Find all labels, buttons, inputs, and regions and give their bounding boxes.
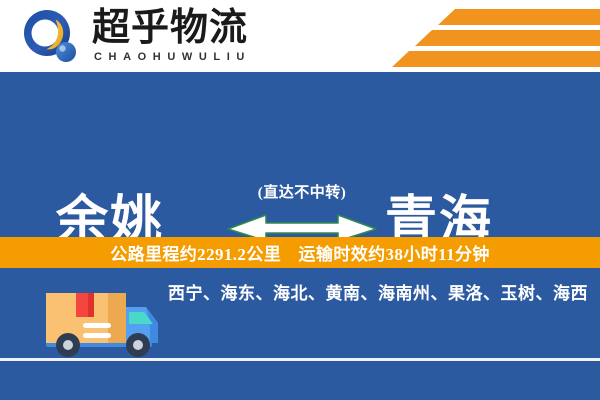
brand-name-en: CHAOHUWULIU <box>94 51 251 63</box>
direct-route-note: (直达不中转) <box>222 184 382 202</box>
coverage-section: 西宁、海东、海北、黄南、海南州、果洛、玉树、海西 <box>0 268 600 400</box>
circle-swoosh-logo-icon <box>22 8 80 66</box>
logistics-route-poster: 超乎物流 CHAOHUWULIU 余姚 (直达不中转) 【往返运输】 青海 公路… <box>0 0 600 400</box>
route-band: 余姚 (直达不中转) 【往返运输】 青海 <box>0 72 600 232</box>
brand-name-cn: 超乎物流 <box>92 8 248 48</box>
header-stripe-2 <box>432 30 600 46</box>
coverage-cities-text: 西宁、海东、海北、黄南、海南州、果洛、玉树、海西 <box>168 282 588 306</box>
distance-duration-bar: 公路里程约2291.2公里 运输时效约38小时11分钟 <box>0 237 600 268</box>
delivery-truck-icon <box>28 279 168 363</box>
poster-header: 超乎物流 CHAOHUWULIU <box>0 0 600 72</box>
header-stripes <box>340 0 600 72</box>
distance-duration-text: 公路里程约2291.2公里 运输时效约38小时11分钟 <box>110 240 490 265</box>
header-stripe-3 <box>409 51 600 67</box>
brand-logo: 超乎物流 CHAOHUWULIU <box>22 6 322 68</box>
road-line-icon <box>0 358 600 361</box>
header-stripe-1 <box>455 9 600 25</box>
